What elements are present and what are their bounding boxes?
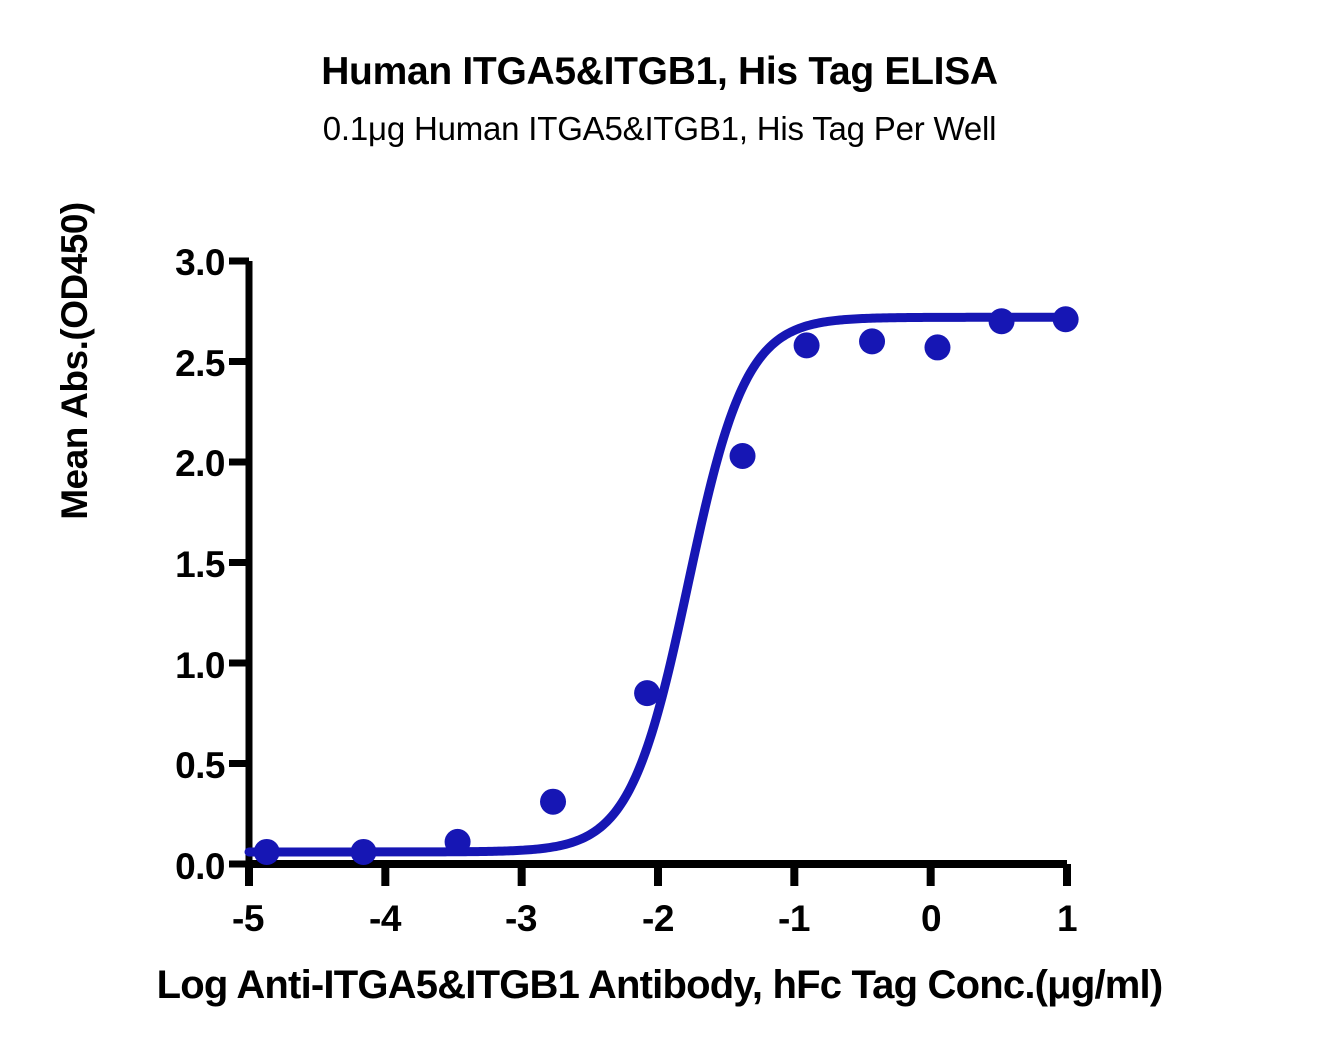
data-point <box>730 443 756 469</box>
data-point <box>445 829 471 855</box>
plot-area <box>0 0 1319 1064</box>
data-point <box>540 789 566 815</box>
data-point <box>1053 306 1079 332</box>
data-point-group <box>254 306 1079 865</box>
data-point <box>794 332 820 358</box>
data-point <box>351 839 377 865</box>
data-point <box>989 308 1015 334</box>
data-point <box>924 334 950 360</box>
sigmoid-fit-curve <box>249 317 1067 852</box>
data-point <box>254 839 280 865</box>
data-point <box>634 680 660 706</box>
data-point <box>859 328 885 354</box>
elisa-chart-figure: Human ITGA5&ITGB1, His Tag ELISA 0.1μg H… <box>0 0 1319 1064</box>
